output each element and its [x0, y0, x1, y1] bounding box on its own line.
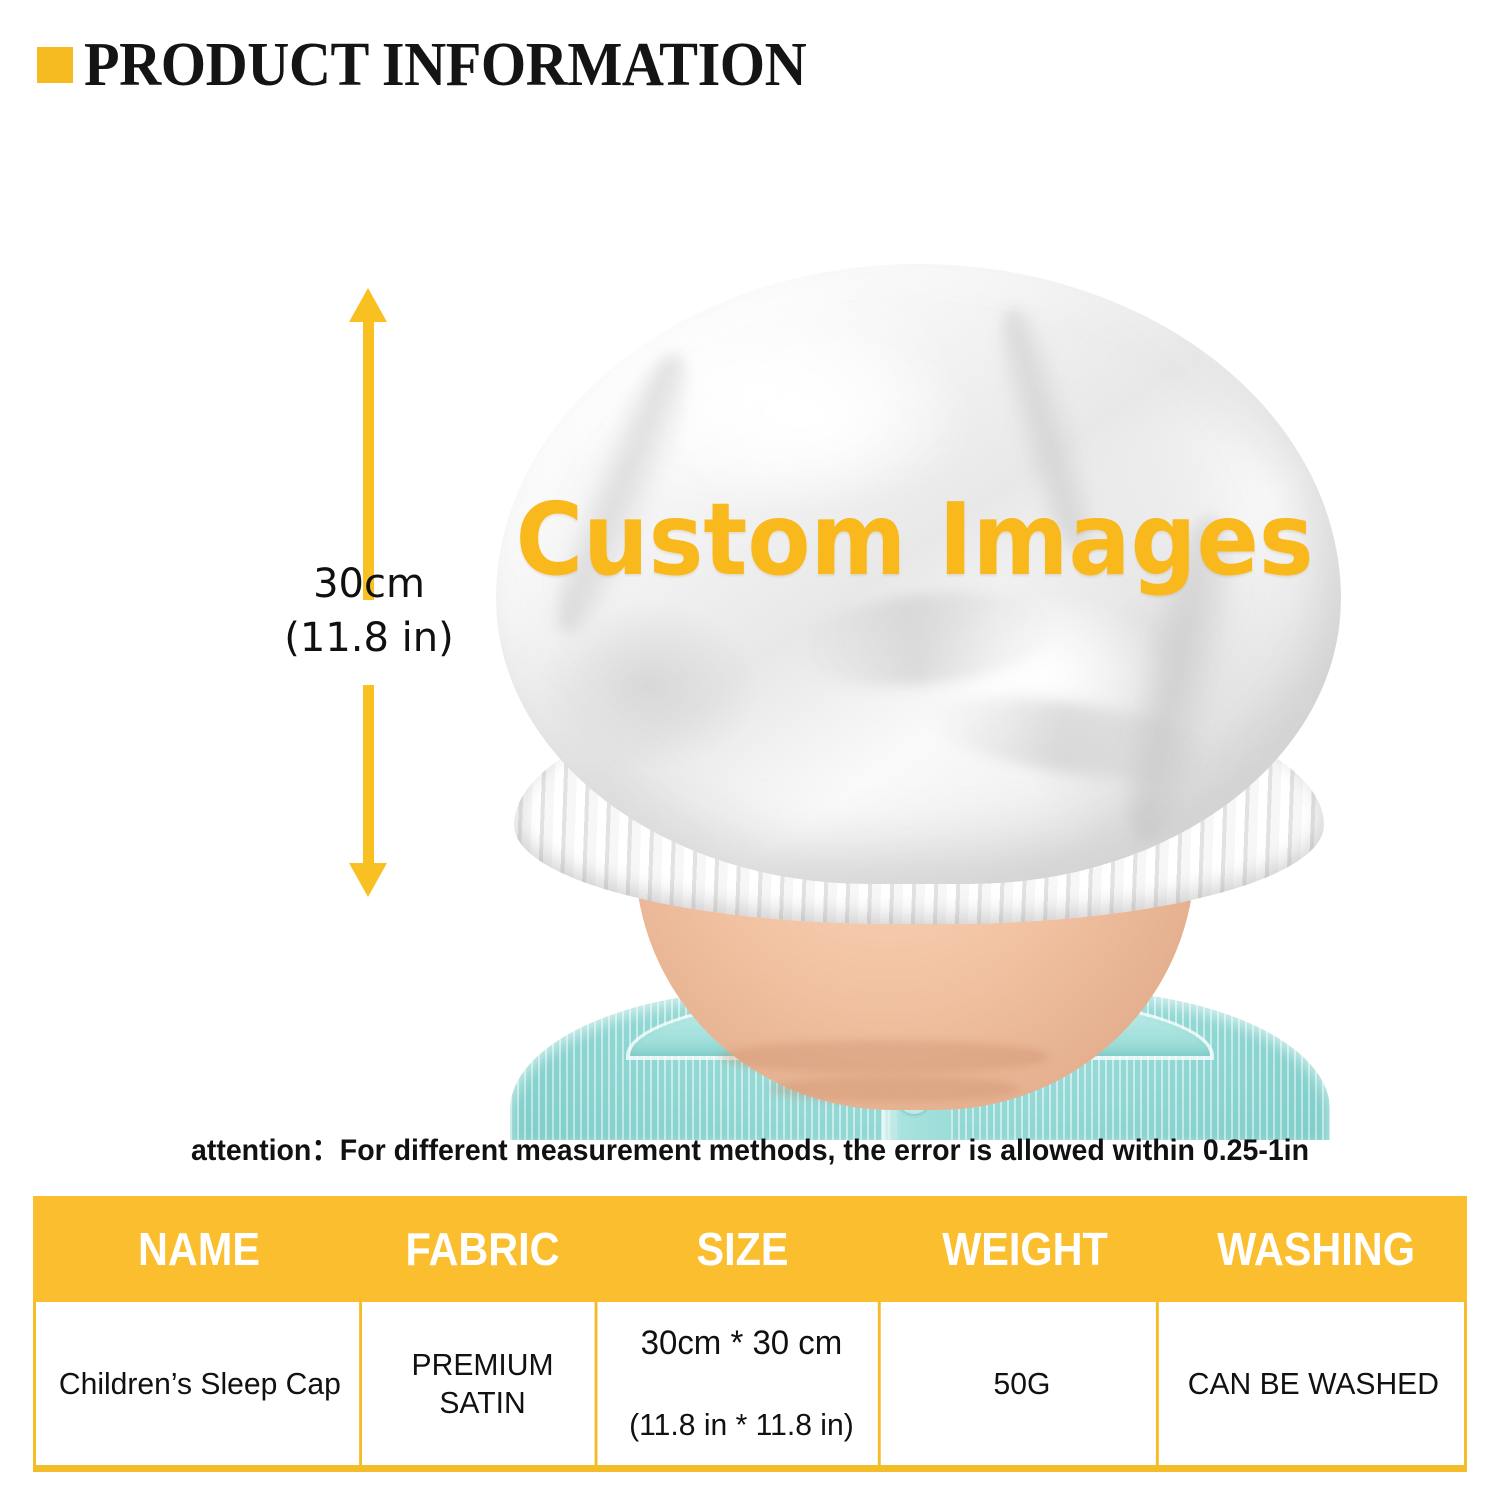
column-header-fabric: FABRIC	[377, 1196, 589, 1302]
cell-size: 30cm * 30 cm (11.8 in * 11.8 in)	[605, 1302, 880, 1465]
square-bullet-icon	[37, 47, 73, 83]
measurement-value-cm: 30cm	[250, 557, 488, 611]
spec-table-header-row: NAME FABRIC SIZE WEIGHT WASHING	[33, 1196, 1467, 1302]
page-header: PRODUCT INFORMATION	[0, 0, 1500, 130]
cell-fabric: PREMIUM SATIN	[370, 1302, 597, 1465]
attention-note: attention：For different measurement meth…	[38, 1130, 1463, 1172]
cell-size-metric: 30cm * 30 cm	[640, 1324, 842, 1362]
neck-fold	[770, 1076, 1020, 1102]
cell-name: Children’s Sleep Cap	[41, 1302, 362, 1465]
column-header-size: SIZE	[614, 1196, 871, 1302]
spec-table: NAME FABRIC SIZE WEIGHT WASHING Children…	[33, 1196, 1467, 1472]
cell-size-imperial: (11.8 in * 11.8 in)	[629, 1406, 854, 1444]
column-header-washing: WASHING	[1180, 1196, 1452, 1302]
custom-images-watermark: Custom Images	[516, 490, 1289, 590]
arrow-down-icon	[349, 863, 387, 897]
column-header-weight: WEIGHT	[899, 1196, 1151, 1302]
page-title: PRODUCT INFORMATION	[84, 30, 806, 100]
cell-washing: CAN BE WASHED	[1168, 1302, 1460, 1465]
neck-fold	[720, 1040, 1050, 1074]
column-header-name: NAME	[50, 1196, 349, 1302]
cell-weight: 50G	[889, 1302, 1159, 1465]
table-row: Children’s Sleep Cap PREMIUM SATIN 30cm …	[33, 1302, 1467, 1472]
measurement-label: 30cm (11.8 in)	[250, 557, 488, 665]
height-measurement-indicator: 30cm (11.8 in)	[250, 285, 490, 905]
measurement-value-in: (11.8 in)	[250, 611, 488, 665]
product-photo: Custom Images	[470, 250, 1370, 1140]
arrow-shaft-bottom	[363, 685, 374, 870]
